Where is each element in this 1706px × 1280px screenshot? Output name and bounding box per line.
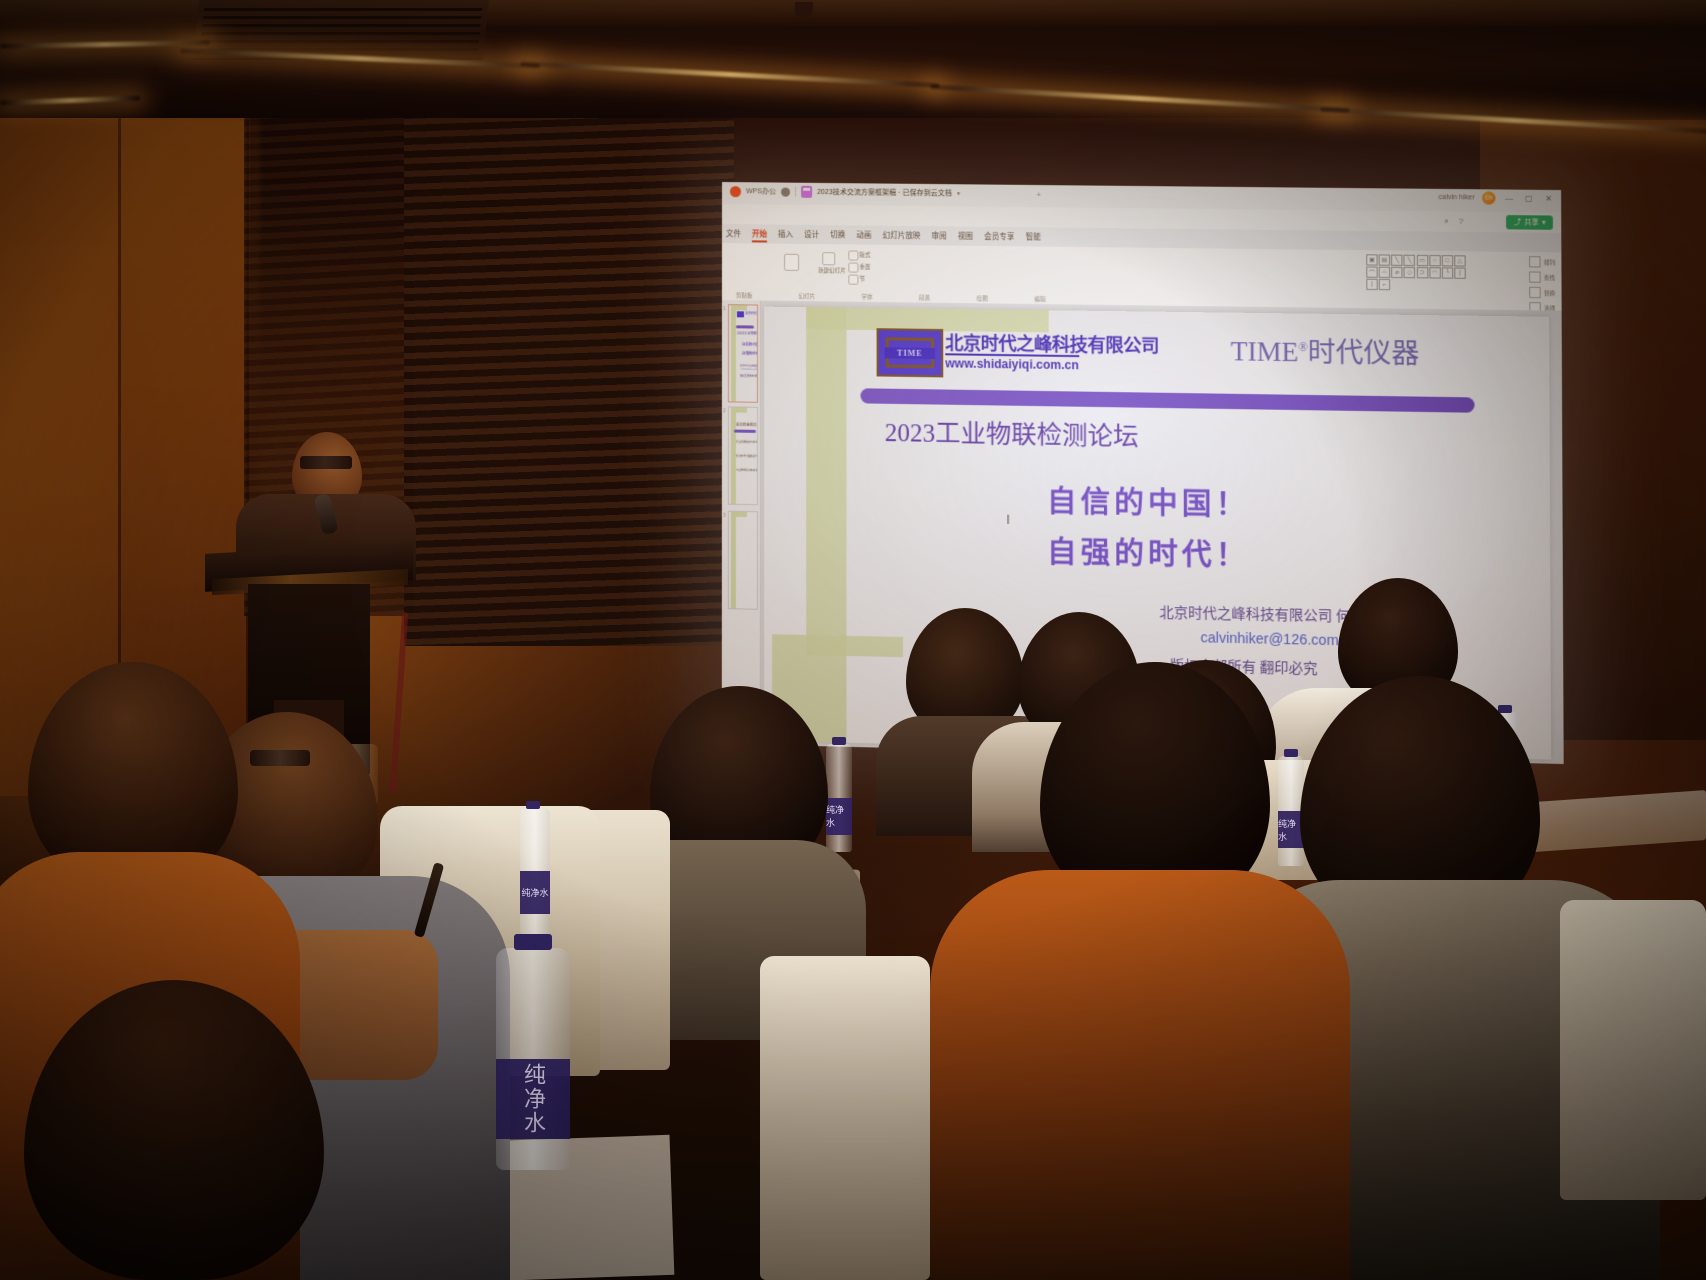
slide-accent-bottom-1	[772, 634, 903, 657]
smoke-detector-icon	[795, 2, 813, 18]
water-bottle-4: 纯净水	[520, 808, 550, 934]
shape-arc-icon[interactable]: ⌒	[1366, 266, 1377, 277]
new-slide-label: 新建幻灯片	[818, 266, 846, 274]
slide-slogan-1: 自信的中国！	[1047, 478, 1250, 524]
shape-curve-icon[interactable]: ⌓	[1379, 267, 1390, 278]
shape-arrow-icon[interactable]: ╲	[1404, 255, 1415, 266]
close-button[interactable]: ✕	[1542, 194, 1555, 203]
brand-wordmark: TIME®时代仪器	[1231, 329, 1420, 371]
conference-room-photo: WPS办公 2023技术交流方案框架稿 · 已保存到云文档 ▾ + calvin…	[0, 0, 1706, 1280]
shape-corner-icon[interactable]: ╰	[1442, 267, 1453, 278]
shape-rect-grid-icon[interactable]: ▤	[1379, 254, 1390, 265]
slide-accent-left	[806, 307, 846, 743]
tab-home[interactable]: 开始	[752, 228, 767, 239]
time-logo-icon: TIME	[877, 328, 944, 377]
find-icon	[1529, 271, 1541, 282]
water-bottle-foreground: 纯净水	[496, 948, 570, 1170]
group-paragraph: 段落	[919, 294, 930, 302]
share-button[interactable]: ⤴ 共享 ▾	[1507, 215, 1553, 230]
thumb-number-2: 2	[723, 408, 726, 414]
section-label[interactable]: 节	[859, 275, 865, 283]
group-slides: 幻灯片	[799, 292, 816, 300]
thumb2-bullet-2: 检测技术升级路径与核心难点	[736, 454, 758, 459]
chevron-down-icon: ▾	[1542, 218, 1546, 226]
bottle-label-foreground: 纯净水	[496, 1059, 570, 1139]
thumb-number-1: 1	[723, 306, 726, 312]
bottle-cap-icon	[1284, 749, 1298, 757]
reset-icon[interactable]	[848, 263, 858, 273]
thumb1-company: 北京时代之峰科技有限公司	[745, 311, 758, 315]
bottle-label-3: 纯净水	[826, 798, 852, 835]
globe-icon[interactable]	[781, 187, 790, 196]
tab-smart[interactable]: 智能	[1026, 231, 1041, 242]
audience-body-front-center	[930, 870, 1350, 1280]
arrange-row[interactable]: 排列	[1529, 256, 1555, 268]
tab-transition[interactable]: 切换	[830, 229, 845, 240]
shape-rectangle-icon[interactable]: ▭	[1416, 255, 1427, 266]
shape-brace-right-icon[interactable]: ⟩	[1366, 279, 1377, 290]
wood-slat-wall	[404, 86, 734, 646]
user-name-label: calvin hiker	[1438, 194, 1474, 201]
text-cursor-icon: I	[1006, 512, 1010, 527]
slide-email: calvinhiker@126.com	[1201, 629, 1339, 648]
avatar[interactable]: CH	[1482, 191, 1496, 204]
section-icon[interactable]	[848, 275, 858, 285]
find-row[interactable]: 查找	[1529, 271, 1555, 283]
thumb2-bullet-1: 行业发展现状与市场需求分析	[736, 440, 758, 445]
thumb1-byline: 北京时代之峰科技有限公司 何克勤	[740, 363, 758, 368]
group-font: 字体	[861, 293, 872, 301]
shape-bracket-icon[interactable]: ⌐	[1379, 279, 1390, 290]
tab-insert[interactable]: 插入	[778, 229, 793, 240]
chair-far-right	[1560, 900, 1706, 1200]
chevron-down-icon[interactable]: ▾	[957, 190, 960, 197]
new-tab-button[interactable]: +	[1036, 190, 1041, 199]
shape-ring-icon[interactable]: ⌀	[1391, 267, 1402, 278]
wps-logo-icon	[730, 186, 741, 197]
home-tab-label[interactable]: WPS办公	[746, 186, 776, 196]
find-label: 查找	[1544, 273, 1556, 281]
bottle-label-4: 纯净水	[520, 871, 550, 914]
shape-rect-filled-icon[interactable]: ▣	[1366, 254, 1377, 265]
arrange-label: 排列	[1544, 258, 1556, 266]
arrange-icon	[1529, 256, 1541, 267]
reset-label[interactable]: 重置	[859, 263, 870, 271]
share-icon: ⤴	[1514, 217, 1521, 227]
slide-thumbnail-2[interactable]: 革命尚未成功，同志仍须努力 行业发展现状与市场需求分析 检测技术升级路径与核心难…	[728, 406, 758, 505]
group-clipboard: 剪贴板	[736, 291, 753, 299]
speaker-glasses-icon	[300, 456, 352, 469]
titlebar-divider	[795, 187, 796, 197]
shape-bump-icon[interactable]: ◠	[1429, 267, 1440, 278]
shape-halfmoon-icon[interactable]: ⊃	[1416, 267, 1427, 278]
share-label: 共享	[1524, 217, 1539, 227]
shape-triangle-icon[interactable]: △	[1454, 255, 1465, 266]
shape-gallery[interactable]: ▣ ▤ ╲ ╲ ▭ ○ □ △ ⌒ ⌓ ⌀ ◇ ⊃ ◠ ╰ ⟨ ⟩ ⌐	[1366, 254, 1466, 291]
bottle-cap-icon	[514, 934, 552, 950]
thumb1-line2: 自强的时代！	[742, 350, 758, 355]
presentation-file-icon	[801, 186, 812, 198]
thumb2-title: 革命尚未成功，同志仍须努力	[736, 422, 758, 428]
shape-square-icon[interactable]: □	[1442, 255, 1453, 266]
brand-chinese: 时代仪器	[1308, 337, 1420, 369]
help-icon[interactable]: ?	[1459, 217, 1464, 226]
thumb1-rights: 版权全部所有 翻印必究	[740, 373, 758, 377]
replace-label: 替换	[1544, 288, 1556, 296]
chair-bottom-center	[760, 956, 930, 1280]
company-website: www.shidaiyiqi.com.cn	[945, 353, 1079, 372]
search-icon[interactable]: ⌕	[1444, 216, 1449, 226]
maximize-button[interactable]: ▢	[1523, 194, 1536, 203]
shape-circle-icon[interactable]: ○	[1429, 255, 1440, 266]
group-drawing: 绘图	[977, 294, 988, 302]
bottle-cap-icon	[832, 737, 846, 745]
bottle-cap-icon	[1498, 705, 1512, 713]
audience-glasses-icon	[250, 750, 310, 766]
thumb1-email: calvinhiker@126.com	[741, 368, 758, 370]
thumb2-bullet-3: 工业物联检测未来发展方向	[736, 468, 758, 473]
tab-member[interactable]: 会员专享	[984, 231, 1014, 242]
tab-animation[interactable]: 动画	[856, 229, 871, 240]
shape-brace-left-icon[interactable]: ⟨	[1454, 268, 1465, 279]
document-tab-label[interactable]: 2023技术交流方案框架稿 · 已保存到云文档	[817, 187, 952, 198]
water-bottle-3: 纯净水	[826, 744, 852, 852]
tab-slideshow[interactable]: 幻灯片放映	[883, 230, 921, 241]
slide-thumbnail-1[interactable]: 北京时代之峰科技有限公司 2023工业物联检测论坛 自信的中国！ 自强的时代！ …	[728, 304, 758, 403]
replace-icon	[1529, 287, 1541, 298]
tab-file[interactable]: 文件	[726, 228, 741, 239]
brand-latin: TIME	[1231, 336, 1299, 367]
tab-design[interactable]: 设计	[804, 229, 819, 240]
tab-view[interactable]: 视图	[958, 231, 973, 242]
layout-label[interactable]: 版式	[859, 251, 870, 259]
logo-mark-text: TIME	[885, 347, 936, 359]
slide-divider-bar	[860, 388, 1474, 412]
tab-review[interactable]: 审阅	[932, 230, 947, 241]
bottle-cap-icon	[526, 801, 540, 809]
replace-row[interactable]: 替换	[1529, 287, 1555, 299]
slide-thumbnail-pane[interactable]: 1 北京时代之峰科技有限公司 2023工业物联检测论坛 自信的中国！ 自强的时代…	[722, 300, 761, 745]
thumb1-title: 2023工业物联检测论坛	[737, 330, 758, 335]
minimize-button[interactable]: —	[1503, 194, 1516, 203]
slide-thumbnail-3[interactable]	[728, 511, 758, 610]
ceiling	[0, 0, 1706, 118]
registered-icon: ®	[1298, 340, 1307, 354]
group-editing: 编辑	[1034, 295, 1045, 303]
paste-icon[interactable]	[784, 254, 799, 271]
thumb-number-3: 3	[723, 513, 726, 519]
layout-icon[interactable]	[848, 250, 858, 260]
new-slide-icon[interactable]	[822, 252, 835, 265]
thumb1-line1: 自信的中国！	[742, 341, 758, 346]
slide-slogan-2: 自强的时代！	[1047, 529, 1250, 575]
shape-line-icon[interactable]: ╲	[1391, 255, 1402, 266]
shape-diamond-icon[interactable]: ◇	[1404, 267, 1415, 278]
slide-title: 2023工业物联检测论坛	[885, 413, 1139, 453]
